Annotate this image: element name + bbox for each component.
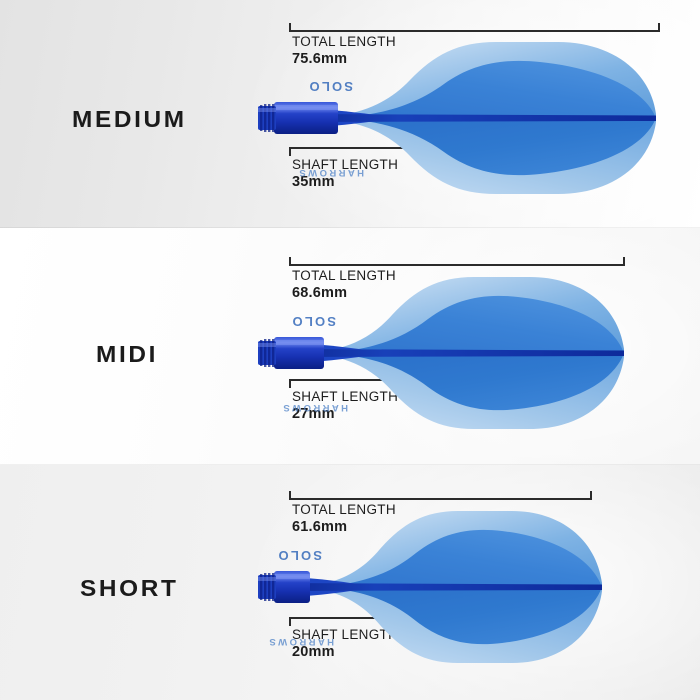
panel-medium: MEDIUM TOTAL LENGTH 75.6mm SHAFT LENGTH …: [0, 0, 700, 228]
flight-brand-text: HARROWS: [281, 402, 348, 413]
size-label-medium: MEDIUM: [72, 106, 187, 133]
panel-midi: MIDI TOTAL LENGTH 68.6mm SHAFT LENGTH 27…: [0, 228, 700, 465]
flight-model-text: SOLO: [307, 79, 353, 94]
shaft-highlight: [274, 574, 310, 579]
size-label-short: SHORT: [80, 575, 179, 602]
size-label-midi: MIDI: [96, 341, 158, 368]
flight-model-text: SOLO: [290, 314, 336, 329]
panel-short: SHORT TOTAL LENGTH 61.6mm SHAFT LENGTH 2…: [0, 465, 700, 700]
shaft-threads: [258, 339, 276, 367]
flight-model-text: SOLO: [276, 548, 322, 563]
dart-graphic-short: SOLO HARROWS: [258, 487, 608, 687]
dart-graphic-medium: SOLO HARROWS: [258, 18, 668, 218]
shaft-highlight: [274, 105, 338, 110]
shaft-threads: [258, 573, 276, 601]
dart-graphic-midi: SOLO HARROWS: [258, 253, 638, 453]
shaft-threads: [258, 104, 276, 132]
flight-brand-text: HARROWS: [297, 167, 364, 178]
flight-brand-text: HARROWS: [267, 636, 334, 647]
shaft-highlight: [274, 340, 324, 345]
size-comparison-diagram: MEDIUM TOTAL LENGTH 75.6mm SHAFT LENGTH …: [0, 0, 700, 700]
